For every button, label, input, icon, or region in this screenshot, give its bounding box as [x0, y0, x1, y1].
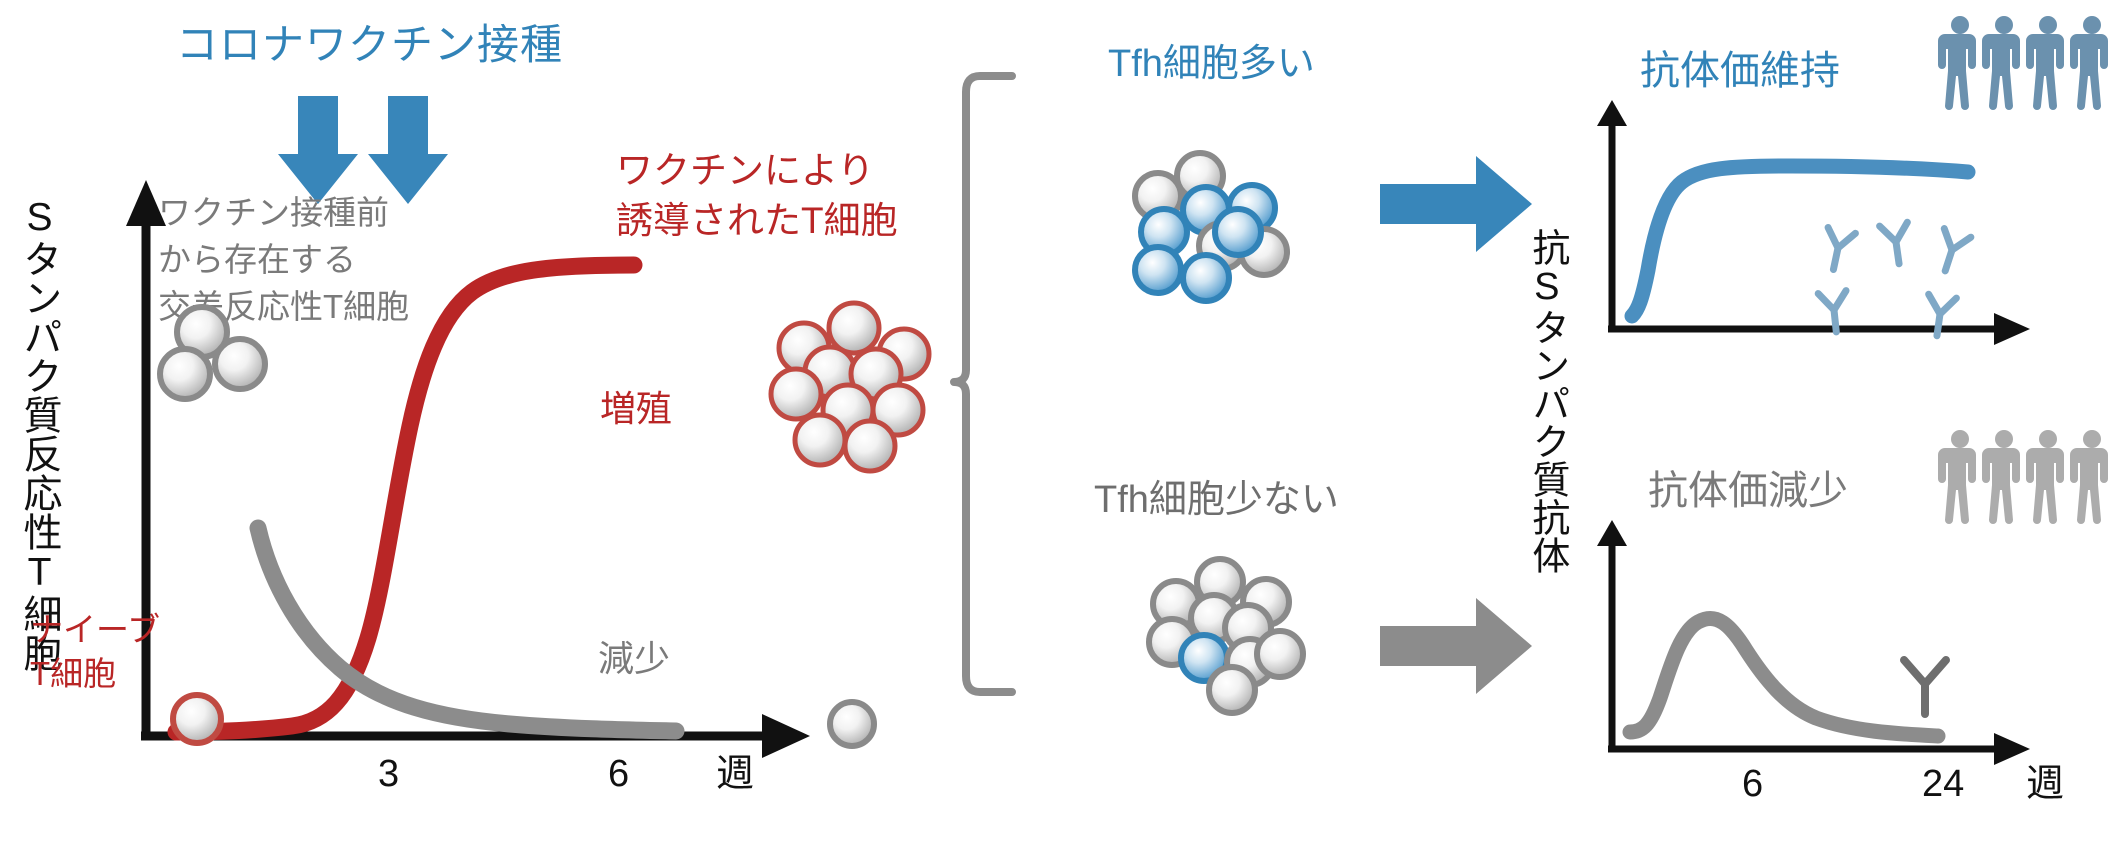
tfh-high-right-arrow: [1380, 156, 1540, 252]
figure-canvas: コロナワクチン接種 Sタンパク質反応性T細胞 ワクチ: [0, 0, 2122, 850]
expansion-label: 増殖: [600, 388, 672, 430]
decline-label: 減少: [598, 638, 670, 680]
pre-existing-cell-cluster: [160, 300, 340, 410]
group-bracket: [940, 70, 1020, 700]
tfh-low-label: Tfh細胞少ない: [1094, 478, 1339, 523]
tfh-high-label: Tfh細胞多い: [1108, 42, 1315, 87]
left-xtick-6: 6: [608, 752, 629, 797]
left-xtick-3: 3: [378, 752, 399, 797]
tfh-low-cell-cluster: [1148, 558, 1328, 708]
people-icons-maintained: [1940, 14, 2116, 114]
tfh-high-cell-cluster: [1132, 148, 1312, 298]
antibody-icon-declining: [1890, 652, 1960, 732]
people-icons-declining: [1940, 428, 2116, 528]
antibody-icons-maintained: [1800, 218, 2050, 348]
induced-tcell-label: ワクチンにより 誘導されたT細胞: [616, 146, 898, 247]
right-x-axis-unit: 週: [2026, 762, 2064, 807]
right-xtick-24: 24: [1922, 762, 1964, 807]
antibody-maintained-title: 抗体価維持: [1640, 48, 1840, 95]
vaccination-heading: コロナワクチン接種: [176, 20, 563, 70]
residual-cell-icon: [824, 696, 880, 752]
left-y-axis-label: Sタンパク質反応性T細胞: [16, 196, 62, 672]
left-x-axis-unit: 週: [716, 752, 754, 797]
antibody-declining-chart: [1590, 520, 2070, 780]
naive-tcell-icon: [166, 688, 228, 750]
naive-tcell-label: ナイーブ T細胞: [30, 608, 160, 696]
tfh-low-right-arrow: [1380, 598, 1540, 694]
induced-tcell-cluster: [756, 300, 946, 470]
right-xtick-6: 6: [1742, 762, 1763, 807]
right-y-axis-label: 抗Sタンパク質抗体: [1524, 228, 1569, 574]
antibody-declining-title: 抗体価減少: [1648, 468, 1848, 515]
